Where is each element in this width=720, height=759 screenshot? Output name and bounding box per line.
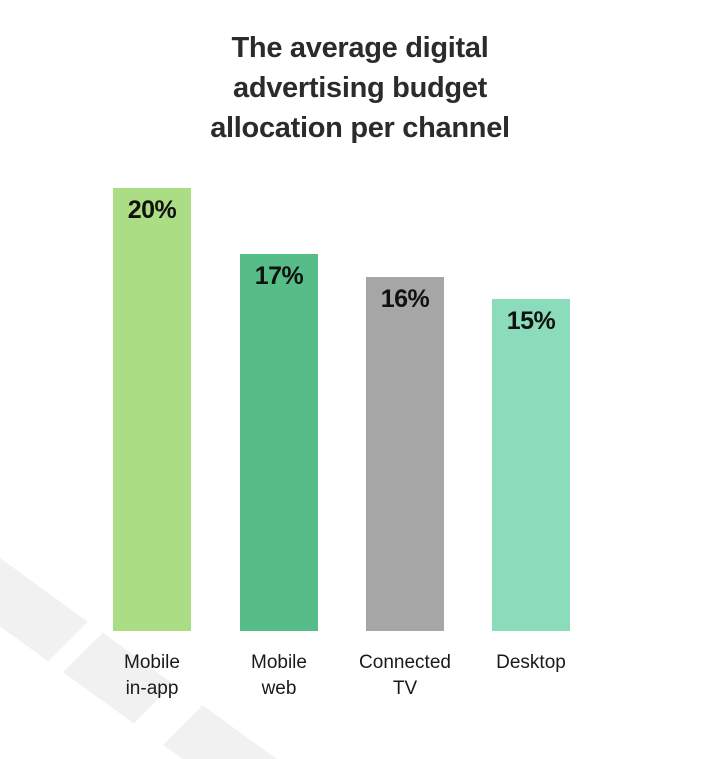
chart-title-line-2: advertising budget: [0, 68, 720, 108]
chart-title-line-1: The average digital: [0, 28, 720, 68]
chart-title: The average digital advertising budget a…: [0, 28, 720, 148]
bar-mobile-in-app[interactable]: 20%: [113, 188, 191, 631]
axis-label-mobile-in-app-line-1: Mobile: [87, 650, 217, 676]
bar-value-mobile-in-app: 20%: [113, 196, 191, 225]
axis-label-mobile-in-app-line-2: in-app: [87, 676, 217, 702]
axis-label-connected-tv-line-2: TV: [340, 676, 470, 702]
axis-label-mobile-web-line-1: Mobile: [214, 650, 344, 676]
bar-mobile-web[interactable]: 17%: [240, 254, 318, 631]
axis-label-mobile-web: Mobile web: [214, 650, 344, 702]
axis-label-desktop-line-1: Desktop: [466, 650, 596, 676]
bar-connected-tv[interactable]: 16%: [366, 277, 444, 631]
axis-label-desktop: Desktop: [466, 650, 596, 676]
bar-value-mobile-web: 17%: [240, 262, 318, 291]
infographic-canvas: The average digital advertising budget a…: [0, 0, 720, 759]
bar-value-connected-tv: 16%: [366, 285, 444, 314]
bar-value-desktop: 15%: [492, 307, 570, 336]
chart-title-line-3: allocation per channel: [0, 108, 720, 148]
axis-label-connected-tv: Connected TV: [340, 650, 470, 702]
axis-label-connected-tv-line-1: Connected: [340, 650, 470, 676]
bar-desktop[interactable]: 15%: [492, 299, 570, 631]
axis-label-mobile-in-app: Mobile in-app: [87, 650, 217, 702]
axis-label-mobile-web-line-2: web: [214, 676, 344, 702]
